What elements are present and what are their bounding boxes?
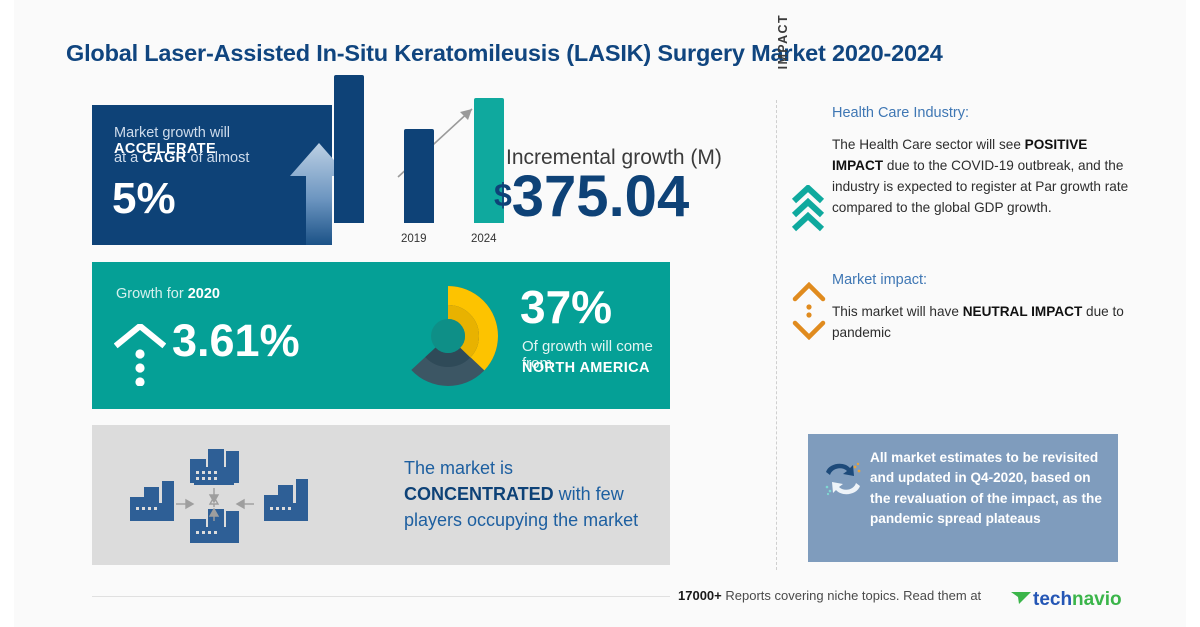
- concentration-text-pre: The market is: [404, 458, 513, 478]
- buildings-cluster-icon: [130, 447, 320, 545]
- incremental-amount: 375.04: [512, 164, 689, 229]
- revisit-text: All market estimates to be revisited and…: [870, 448, 1106, 530]
- growth-heading: Growth for 2020: [116, 286, 220, 302]
- impact-section-market: Market impact: This market will have NEU…: [832, 272, 1132, 343]
- page-title: Global Laser-Assisted In-Situ Keratomile…: [66, 40, 1066, 67]
- column-divider: [776, 100, 777, 570]
- impact-heading-health-care: Health Care Industry:: [832, 105, 1132, 121]
- technavio-arrow-icon: [1011, 592, 1031, 604]
- currency-symbol: $: [494, 177, 512, 213]
- bar-backdrop: [334, 75, 364, 223]
- technavio-logo[interactable]: tech navio: [1009, 586, 1129, 610]
- impact-body-0-pre: The Health Care sector will see: [832, 137, 1025, 152]
- footer-tagline: Reports covering niche topics. Read them…: [722, 588, 981, 603]
- up-down-chevron-icon: [792, 282, 826, 340]
- impact-body-1-pre: This market will have: [832, 304, 963, 319]
- growth-heading-pre: Growth for: [116, 286, 188, 302]
- incremental-growth-value: $375.04: [494, 168, 689, 226]
- bar-2019: [404, 129, 434, 223]
- concentration-keyword: CONCENTRATED: [404, 484, 554, 504]
- cagr-value: 5%: [112, 177, 176, 221]
- north-america-percent: 37%: [520, 284, 612, 330]
- impact-body-health-care: The Health Care sector will see POSITIVE…: [832, 134, 1132, 218]
- growth-panel: Growth for 2020 3.61% 37% Of growth will…: [92, 262, 670, 409]
- bar-label-2019: 2019: [401, 233, 427, 245]
- up-chevron-dots-icon: [114, 324, 166, 386]
- incremental-bar-chart: 2019 2024: [344, 103, 474, 245]
- revisit-panel: All market estimates to be revisited and…: [808, 434, 1118, 562]
- impact-body-market: This market will have NEUTRAL IMPACT due…: [832, 301, 1132, 343]
- cagr-line2-post: of almost: [187, 150, 250, 166]
- svg-text:tech: tech: [1033, 589, 1072, 610]
- svg-text:navio: navio: [1072, 589, 1122, 610]
- cagr-panel: Market growth will ACCELERATE at a CAGR …: [92, 105, 332, 245]
- infographic-canvas: Global Laser-Assisted In-Situ Keratomile…: [0, 0, 1200, 627]
- cagr-word: CAGR: [142, 150, 186, 166]
- refresh-cycle-icon: [822, 458, 864, 500]
- concentration-text: The market is CONCENTRATED with few play…: [404, 455, 664, 533]
- impact-section-health-care: Health Care Industry: The Health Care se…: [832, 105, 1132, 218]
- concentration-panel: The market is CONCENTRATED with few play…: [92, 425, 670, 565]
- north-america-region: NORTH AMERICA: [522, 360, 650, 376]
- footer-text: 17000+ Reports covering niche topics. Re…: [678, 588, 981, 603]
- footer-rule: [92, 596, 670, 597]
- cagr-line-2: at a CAGR of almost: [114, 150, 249, 166]
- growth-year: 2020: [188, 286, 220, 302]
- neutral-impact-keyword: NEUTRAL IMPACT: [963, 304, 1083, 319]
- impact-heading-market: Market impact:: [832, 272, 1132, 288]
- cagr-line2-pre: at a: [114, 150, 142, 166]
- infographic-inner: Global Laser-Assisted In-Situ Keratomile…: [14, 0, 1186, 627]
- cagr-line1-text: Market growth will: [114, 125, 230, 141]
- double-up-chevron-icon: [792, 185, 824, 237]
- bar-label-2024: 2024: [471, 233, 497, 245]
- footer-report-count: 17000+: [678, 588, 722, 603]
- north-america-donut-chart: [398, 286, 498, 386]
- impact-vertical-label: IMPACT: [776, 14, 806, 104]
- growth-value: 3.61%: [172, 318, 300, 363]
